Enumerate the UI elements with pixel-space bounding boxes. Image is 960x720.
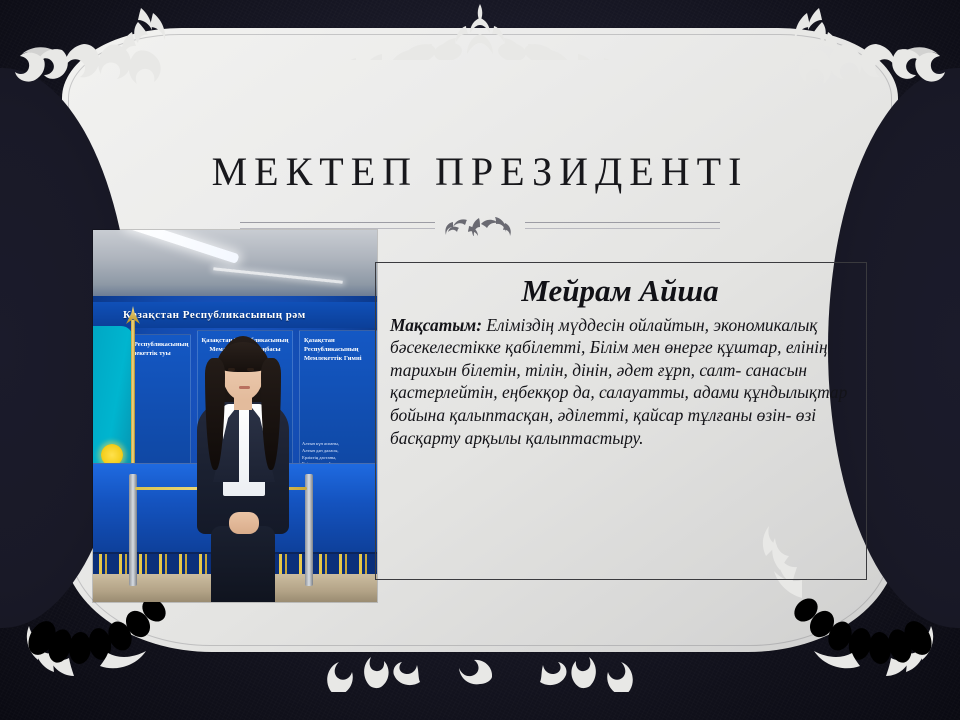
anthem-line: Алтын күн аспаны, xyxy=(302,441,370,448)
goal-label: Мақсатым: xyxy=(390,315,482,335)
divider-line-left xyxy=(240,222,435,229)
anthem-line: Алтын дән даласы, xyxy=(302,448,370,455)
stanchion-right xyxy=(305,474,313,586)
presentation-slide: МЕКТЕП ПРЕЗИДЕНТІ Қазақстан Республикасы… xyxy=(0,0,960,720)
ceiling-light xyxy=(124,230,239,264)
figure-hands xyxy=(229,512,259,534)
goal-paragraph: Мақсатым: Еліміздің мүддесін ойлайтын, э… xyxy=(390,314,850,450)
student-portrait-photo: Қазақстан Республикасының рәм Қазақстан … xyxy=(93,230,377,602)
photo-ceiling xyxy=(93,230,377,302)
figure-mouth xyxy=(239,386,250,389)
page-title: МЕКТЕП ПРЕЗИДЕНТІ xyxy=(0,148,960,195)
photo-banner-text: Қазақстан Республикасының рәм xyxy=(93,302,377,328)
stanchion-left xyxy=(129,474,137,586)
divider-flourish-icon xyxy=(445,214,515,236)
student-figure xyxy=(189,336,297,602)
figure-trousers xyxy=(211,526,275,602)
person-name: Мейрам Айша xyxy=(390,275,850,308)
anthem-line: Ерліктің дастаны, xyxy=(302,455,370,462)
profile-textbox: Мейрам Айша Мақсатым: Еліміздің мүддесін… xyxy=(375,262,867,580)
ceiling-light-strip xyxy=(213,267,343,284)
photo-panel-anthem-title: Қазақстан Республикасының Мемлекеттік Ги… xyxy=(304,337,376,363)
figure-eye-right xyxy=(247,368,254,371)
figure-eye-left xyxy=(228,368,235,371)
divider-line-right xyxy=(525,222,720,229)
